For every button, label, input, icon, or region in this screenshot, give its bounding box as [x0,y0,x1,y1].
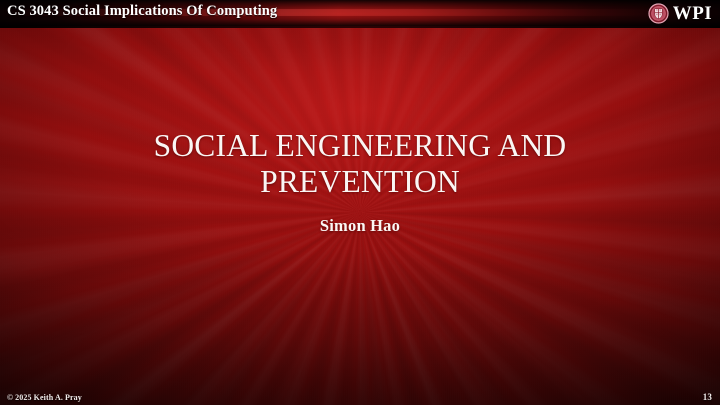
wpi-seal-icon [648,3,669,24]
wpi-logo: WPI [648,1,712,26]
slide-content: SOCIAL ENGINEERING AND PREVENTION Simon … [0,27,720,405]
footer-page-number: 13 [703,392,712,402]
footer-copyright: © 2025 Keith A. Pray [7,393,82,402]
presentation-slide: CS 3043 Social Implications Of Computing… [0,0,720,405]
course-title: CS 3043 Social Implications Of Computing [7,3,277,20]
slide-subtitle-author: Simon Hao [60,216,660,236]
slide-title: SOCIAL ENGINEERING AND PREVENTION [60,128,660,200]
header-divider-rule [0,26,720,28]
title-block: SOCIAL ENGINEERING AND PREVENTION Simon … [60,128,660,236]
wpi-wordmark: WPI [673,3,712,24]
